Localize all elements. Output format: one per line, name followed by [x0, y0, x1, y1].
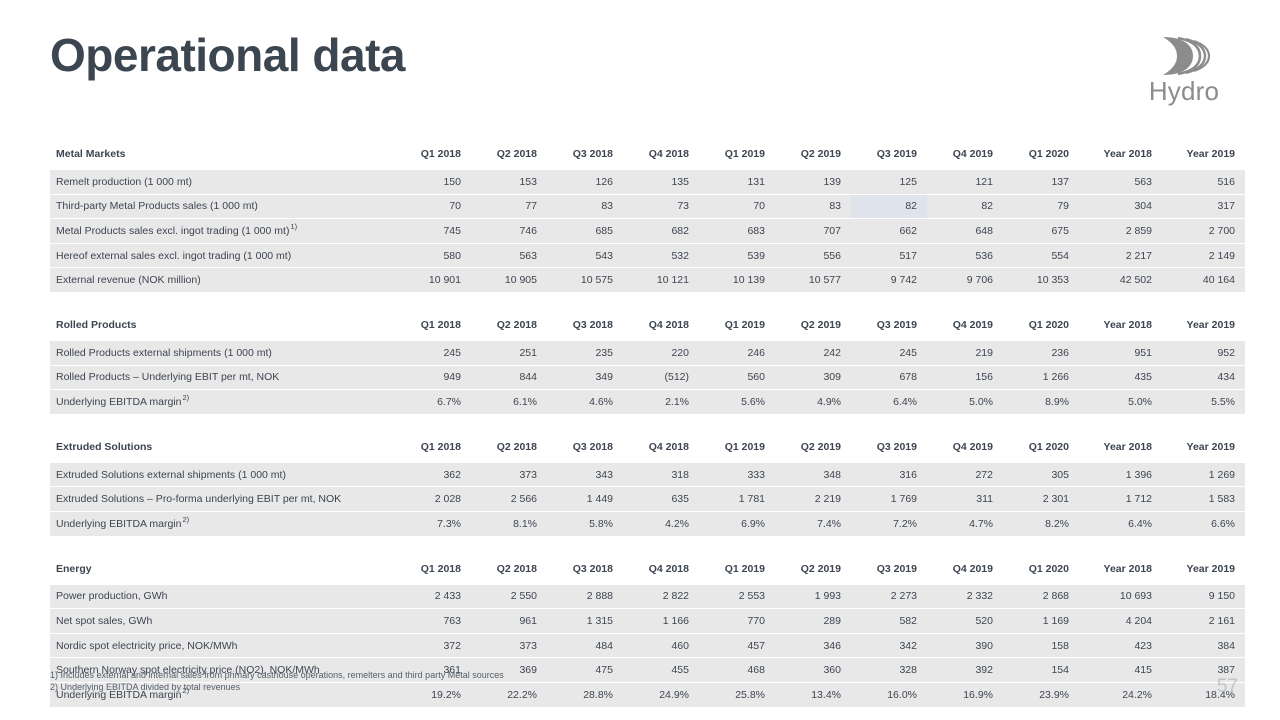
table-cell: 245: [395, 341, 471, 365]
table-cell: 844: [471, 365, 547, 390]
table-cell: 150: [395, 170, 471, 194]
column-header: Q1 2019: [699, 138, 775, 170]
footnotes: 1) Includes external and internal sales …: [50, 670, 504, 693]
table-cell: 349: [547, 365, 623, 390]
table-cell: 475: [547, 658, 623, 683]
table-cell: 4 204: [1079, 609, 1162, 634]
row-label: Extruded Solutions – Pro-forma underlyin…: [50, 487, 395, 512]
table-cell: 126: [547, 170, 623, 194]
table-cell: 6.1%: [471, 390, 547, 414]
column-header: Q1 2019: [699, 553, 775, 585]
table-title: Energy: [50, 553, 395, 585]
table-cell: 289: [775, 609, 851, 634]
table-cell: 2 553: [699, 585, 775, 609]
table-cell: 6.4%: [851, 390, 927, 414]
table-title: Extruded Solutions: [50, 431, 395, 463]
table-row: Rolled Products external shipments (1 00…: [50, 341, 1245, 365]
column-header: Year 2018: [1079, 431, 1162, 463]
table-cell: 949: [395, 365, 471, 390]
table-cell: 1 769: [851, 487, 927, 512]
table-cell: 9 150: [1162, 585, 1245, 609]
column-header: Q1 2020: [1003, 431, 1079, 463]
table-cell: 8.1%: [471, 511, 547, 535]
table-cell: 539: [699, 243, 775, 268]
row-label: Power production, GWh: [50, 585, 395, 609]
column-header: Q1 2018: [395, 553, 471, 585]
table-cell: 1 266: [1003, 365, 1079, 390]
table-cell: 2 301: [1003, 487, 1079, 512]
table-cell: 25.8%: [699, 682, 775, 706]
table-cell: 23.9%: [1003, 682, 1079, 706]
table-cell: 455: [623, 658, 699, 683]
table-cell: 251: [471, 341, 547, 365]
table-cell: 77: [471, 194, 547, 219]
table-header-row: Extruded Solutions Q1 2018 Q2 2018 Q3 20…: [50, 431, 1245, 463]
table-cell: 318: [623, 463, 699, 487]
table-cell: 745: [395, 219, 471, 244]
table-cell: 6.7%: [395, 390, 471, 414]
table-cell: 961: [471, 609, 547, 634]
row-label: Remelt production (1 000 mt): [50, 170, 395, 194]
table-cell: 951: [1079, 341, 1162, 365]
column-header: Q2 2018: [471, 553, 547, 585]
table-body: Extruded Solutions external shipments (1…: [50, 463, 1245, 536]
table-row: External revenue (NOK million)10 90110 9…: [50, 268, 1245, 292]
row-label: Nordic spot electricity price, NOK/MWh: [50, 633, 395, 658]
row-label: Third-party Metal Products sales (1 000 …: [50, 194, 395, 219]
table-cell: 770: [699, 609, 775, 634]
table-row: Hereof external sales excl. ingot tradin…: [50, 243, 1245, 268]
table-cell: 415: [1079, 658, 1162, 683]
table-cell: 373: [471, 463, 547, 487]
column-header: Q4 2018: [623, 138, 699, 170]
table-cell: 2 149: [1162, 243, 1245, 268]
table-cell: 582: [851, 609, 927, 634]
table-cell: 9 706: [927, 268, 1003, 292]
column-header: Q3 2018: [547, 309, 623, 341]
row-label: External revenue (NOK million): [50, 268, 395, 292]
row-label: Extruded Solutions external shipments (1…: [50, 463, 395, 487]
table-row: Metal Products sales excl. ingot trading…: [50, 219, 1245, 244]
table-cell: 2 700: [1162, 219, 1245, 244]
table-cell: 70: [395, 194, 471, 219]
table-cell: 457: [699, 633, 775, 658]
column-header: Year 2019: [1162, 138, 1245, 170]
table-cell: 333: [699, 463, 775, 487]
table-row: Extruded Solutions – Pro-forma underlyin…: [50, 487, 1245, 512]
table-cell: 5.0%: [1079, 390, 1162, 414]
table-cell: 6.9%: [699, 511, 775, 535]
hydro-arcs-logo-icon: [1136, 33, 1232, 79]
page-number: 57: [1217, 676, 1238, 698]
table-cell: 678: [851, 365, 927, 390]
table-cell: 2 822: [623, 585, 699, 609]
footnote-marker: 2): [181, 393, 189, 402]
column-header: Q1 2018: [395, 309, 471, 341]
table-cell: 460: [623, 633, 699, 658]
table-cell: 1 315: [547, 609, 623, 634]
column-header: Q1 2018: [395, 431, 471, 463]
column-header: Q3 2019: [851, 431, 927, 463]
column-header: Year 2018: [1079, 553, 1162, 585]
table-cell: 1 396: [1079, 463, 1162, 487]
table-cell: 245: [851, 341, 927, 365]
table-cell: 73: [623, 194, 699, 219]
column-header: Q1 2019: [699, 431, 775, 463]
table-cell: 343: [547, 463, 623, 487]
table-cell: 79: [1003, 194, 1079, 219]
table-cell: 435: [1079, 365, 1162, 390]
table-cell: 516: [1162, 170, 1245, 194]
table-title: Rolled Products: [50, 309, 395, 341]
column-header: Q3 2019: [851, 138, 927, 170]
row-label: Net spot sales, GWh: [50, 609, 395, 634]
table-cell: 7.3%: [395, 511, 471, 535]
table-cell: 82: [851, 194, 927, 219]
table-title: Metal Markets: [50, 138, 395, 170]
table-header-row: Rolled Products Q1 2018 Q2 2018 Q3 2018 …: [50, 309, 1245, 341]
table-cell: 5.6%: [699, 390, 775, 414]
table-cell: 362: [395, 463, 471, 487]
table-cell: 1 993: [775, 585, 851, 609]
table-cell: 556: [775, 243, 851, 268]
table-cell: 536: [927, 243, 1003, 268]
brand-wordmark: Hydro: [1136, 77, 1232, 105]
table-header-row: Metal Markets Q1 2018 Q2 2018 Q3 2018 Q4…: [50, 138, 1245, 170]
table-cell: 543: [547, 243, 623, 268]
table-row: Underlying EBITDA margin2)7.3%8.1%5.8%4.…: [50, 511, 1245, 535]
table-row: Underlying EBITDA margin2)6.7%6.1%4.6%2.…: [50, 390, 1245, 414]
table-row: Rolled Products – Underlying EBIT per mt…: [50, 365, 1245, 390]
table-cell: 2 433: [395, 585, 471, 609]
table-cell: 5.0%: [927, 390, 1003, 414]
table-cell: 635: [623, 487, 699, 512]
table-cell: 10 905: [471, 268, 547, 292]
column-header: Q2 2018: [471, 309, 547, 341]
footnote-marker: 2): [181, 515, 189, 524]
table-cell: 219: [927, 341, 1003, 365]
table-cell: (512): [623, 365, 699, 390]
column-header: Q3 2019: [851, 553, 927, 585]
table-cell: 2 161: [1162, 609, 1245, 634]
table-cell: 4.2%: [623, 511, 699, 535]
table-cell: 13.4%: [775, 682, 851, 706]
table-cell: 158: [1003, 633, 1079, 658]
table-cell: 746: [471, 219, 547, 244]
table-cell: 2 550: [471, 585, 547, 609]
table-cell: 10 575: [547, 268, 623, 292]
table-cell: 2 888: [547, 585, 623, 609]
table-cell: 1 781: [699, 487, 775, 512]
table-cell: 10 139: [699, 268, 775, 292]
table-cell: 304: [1079, 194, 1162, 219]
table-cell: 70: [699, 194, 775, 219]
table-cell: 328: [851, 658, 927, 683]
table-cell: 10 693: [1079, 585, 1162, 609]
table-cell: 434: [1162, 365, 1245, 390]
table-cell: 560: [699, 365, 775, 390]
table-cell: 563: [1079, 170, 1162, 194]
table-rolled-products: Rolled Products Q1 2018 Q2 2018 Q3 2018 …: [50, 309, 1245, 414]
column-header: Q3 2018: [547, 431, 623, 463]
table-cell: 360: [775, 658, 851, 683]
table-cell: 242: [775, 341, 851, 365]
table-cell: 236: [1003, 341, 1079, 365]
column-header: Q1 2019: [699, 309, 775, 341]
table-cell: 5.5%: [1162, 390, 1245, 414]
table-cell: 484: [547, 633, 623, 658]
table-cell: 5.8%: [547, 511, 623, 535]
table-cell: 10 577: [775, 268, 851, 292]
table-cell: 4.6%: [547, 390, 623, 414]
table-cell: 648: [927, 219, 1003, 244]
table-cell: 125: [851, 170, 927, 194]
column-header: Q3 2019: [851, 309, 927, 341]
table-cell: 2 217: [1079, 243, 1162, 268]
table-cell: 83: [775, 194, 851, 219]
table-row: Power production, GWh2 4332 5502 8882 82…: [50, 585, 1245, 609]
column-header: Q3 2018: [547, 553, 623, 585]
table-cell: 10 901: [395, 268, 471, 292]
table-cell: 135: [623, 170, 699, 194]
column-header: Q4 2019: [927, 431, 1003, 463]
table-cell: 16.9%: [927, 682, 1003, 706]
table-cell: 1 449: [547, 487, 623, 512]
column-header: Q2 2019: [775, 309, 851, 341]
table-cell: 317: [1162, 194, 1245, 219]
column-header: Year 2019: [1162, 553, 1245, 585]
table-row: Extruded Solutions external shipments (1…: [50, 463, 1245, 487]
table-cell: 2.1%: [623, 390, 699, 414]
table-cell: 24.9%: [623, 682, 699, 706]
table-cell: 1 712: [1079, 487, 1162, 512]
table-cell: 532: [623, 243, 699, 268]
table-cell: 42 502: [1079, 268, 1162, 292]
row-label: Rolled Products – Underlying EBIT per mt…: [50, 365, 395, 390]
column-header: Q1 2018: [395, 138, 471, 170]
table-cell: 2 273: [851, 585, 927, 609]
table-cell: 520: [927, 609, 1003, 634]
column-header: Q4 2019: [927, 309, 1003, 341]
column-header: Q2 2018: [471, 431, 547, 463]
column-header: Q1 2020: [1003, 309, 1079, 341]
table-cell: 10 121: [623, 268, 699, 292]
brand-logo: Hydro: [1136, 33, 1232, 107]
table-cell: 423: [1079, 633, 1162, 658]
row-label: Hereof external sales excl. ingot tradin…: [50, 243, 395, 268]
footnote-2: 2) Underlying EBITDA divided by total re…: [50, 682, 504, 694]
row-label: Metal Products sales excl. ingot trading…: [50, 219, 395, 244]
table-row: Third-party Metal Products sales (1 000 …: [50, 194, 1245, 219]
table-cell: 2 868: [1003, 585, 1079, 609]
table-cell: 1 169: [1003, 609, 1079, 634]
table-cell: 952: [1162, 341, 1245, 365]
table-cell: 10 353: [1003, 268, 1079, 292]
table-cell: 763: [395, 609, 471, 634]
table-cell: 131: [699, 170, 775, 194]
column-header: Year 2018: [1079, 309, 1162, 341]
table-cell: 316: [851, 463, 927, 487]
table-cell: 16.0%: [851, 682, 927, 706]
table-cell: 6.4%: [1079, 511, 1162, 535]
table-body: Remelt production (1 000 mt)150153126135…: [50, 170, 1245, 292]
table-cell: 8.2%: [1003, 511, 1079, 535]
table-cell: 468: [699, 658, 775, 683]
slide-header: Operational data Hydro: [0, 0, 1280, 120]
table-cell: 6.6%: [1162, 511, 1245, 535]
row-label: Underlying EBITDA margin2): [50, 390, 395, 414]
column-header: Q1 2020: [1003, 553, 1079, 585]
table-cell: 372: [395, 633, 471, 658]
row-label: Rolled Products external shipments (1 00…: [50, 341, 395, 365]
row-label: Underlying EBITDA margin2): [50, 511, 395, 535]
column-header: Q4 2019: [927, 138, 1003, 170]
table-cell: 28.8%: [547, 682, 623, 706]
table-cell: 4.9%: [775, 390, 851, 414]
table-cell: 2 219: [775, 487, 851, 512]
column-header: Q2 2019: [775, 138, 851, 170]
column-header: Q4 2018: [623, 431, 699, 463]
table-cell: 1 583: [1162, 487, 1245, 512]
table-cell: 683: [699, 219, 775, 244]
column-header: Q4 2018: [623, 309, 699, 341]
table-cell: 311: [927, 487, 1003, 512]
table-cell: 4.7%: [927, 511, 1003, 535]
table-cell: 682: [623, 219, 699, 244]
table-cell: 9 742: [851, 268, 927, 292]
table-extruded-solutions: Extruded Solutions Q1 2018 Q2 2018 Q3 20…: [50, 431, 1245, 536]
column-header: Q2 2019: [775, 431, 851, 463]
table-cell: 373: [471, 633, 547, 658]
column-header: Q4 2019: [927, 553, 1003, 585]
table-body: Rolled Products external shipments (1 00…: [50, 341, 1245, 414]
table-cell: 580: [395, 243, 471, 268]
table-cell: 342: [851, 633, 927, 658]
table-cell: 40 164: [1162, 268, 1245, 292]
table-row: Remelt production (1 000 mt)150153126135…: [50, 170, 1245, 194]
table-cell: 235: [547, 341, 623, 365]
table-cell: 154: [1003, 658, 1079, 683]
table-cell: 517: [851, 243, 927, 268]
table-cell: 2 332: [927, 585, 1003, 609]
table-cell: 2 859: [1079, 219, 1162, 244]
table-cell: 305: [1003, 463, 1079, 487]
column-header: Q1 2020: [1003, 138, 1079, 170]
table-cell: 83: [547, 194, 623, 219]
column-header: Q2 2019: [775, 553, 851, 585]
table-metal-markets: Metal Markets Q1 2018 Q2 2018 Q3 2018 Q4…: [50, 138, 1245, 292]
table-cell: 8.9%: [1003, 390, 1079, 414]
table-cell: 384: [1162, 633, 1245, 658]
table-cell: 563: [471, 243, 547, 268]
table-cell: 309: [775, 365, 851, 390]
table-cell: 2 028: [395, 487, 471, 512]
table-cell: 348: [775, 463, 851, 487]
page-title: Operational data: [50, 31, 405, 79]
table-cell: 153: [471, 170, 547, 194]
table-cell: 2 566: [471, 487, 547, 512]
table-cell: 82: [927, 194, 1003, 219]
table-header-row: Energy Q1 2018 Q2 2018 Q3 2018 Q4 2018 Q…: [50, 553, 1245, 585]
column-header: Q3 2018: [547, 138, 623, 170]
column-header: Year 2018: [1079, 138, 1162, 170]
column-header: Q2 2018: [471, 138, 547, 170]
table-cell: 390: [927, 633, 1003, 658]
table-cell: 675: [1003, 219, 1079, 244]
table-cell: 156: [927, 365, 1003, 390]
footnote-marker: 1): [289, 222, 297, 231]
column-header: Year 2019: [1162, 431, 1245, 463]
table-cell: 662: [851, 219, 927, 244]
column-header: Year 2019: [1162, 309, 1245, 341]
footnote-1: 1) Includes external and internal sales …: [50, 670, 504, 682]
table-cell: 139: [775, 170, 851, 194]
table-cell: 220: [623, 341, 699, 365]
table-cell: 707: [775, 219, 851, 244]
table-row: Nordic spot electricity price, NOK/MWh37…: [50, 633, 1245, 658]
table-cell: 7.4%: [775, 511, 851, 535]
table-cell: 1 269: [1162, 463, 1245, 487]
table-cell: 121: [927, 170, 1003, 194]
table-cell: 137: [1003, 170, 1079, 194]
table-cell: 346: [775, 633, 851, 658]
column-header: Q4 2018: [623, 553, 699, 585]
table-cell: 685: [547, 219, 623, 244]
table-cell: 1 166: [623, 609, 699, 634]
table-row: Net spot sales, GWh7639611 3151 16677028…: [50, 609, 1245, 634]
operational-data-tables: Metal Markets Q1 2018 Q2 2018 Q3 2018 Q4…: [50, 138, 1230, 707]
table-cell: 24.2%: [1079, 682, 1162, 706]
table-cell: 272: [927, 463, 1003, 487]
table-cell: 554: [1003, 243, 1079, 268]
table-cell: 7.2%: [851, 511, 927, 535]
table-cell: 392: [927, 658, 1003, 683]
table-cell: 246: [699, 341, 775, 365]
